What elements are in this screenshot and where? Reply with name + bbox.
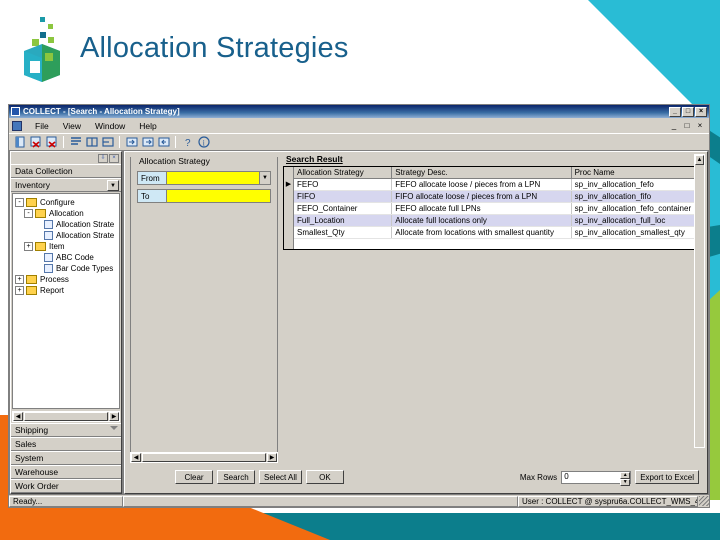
status-user-info: User : COLLECT @ syspru6a.COLLECT_WMS_41… (518, 496, 698, 507)
toolbar-separator (63, 136, 64, 148)
cell-desc: Allocate from locations with smallest qu… (392, 227, 571, 239)
about-icon[interactable]: i (196, 135, 211, 149)
toolbar-separator (175, 136, 176, 148)
window-title: COLLECT - [Search - Allocation Strategy] (23, 107, 669, 116)
sidebar-item-warehouse[interactable]: Warehouse (11, 465, 121, 479)
field-label-to: To (137, 189, 167, 203)
status-message: Ready... (9, 496, 123, 507)
list-view-icon[interactable] (68, 135, 83, 149)
max-rows-value[interactable]: 0 (562, 472, 620, 483)
mdi-document-icon (12, 121, 22, 131)
sidebar-item-label: Warehouse (15, 467, 58, 477)
cell-proc: sp_inv_allocation_fefo_container (571, 203, 701, 215)
scroll-right-icon[interactable]: ▶ (267, 453, 277, 462)
table-row[interactable]: Smallest_QtyAllocate from locations with… (294, 227, 702, 239)
tree-item-allocation[interactable]: -Allocation (15, 208, 117, 219)
tree-item-process[interactable]: +Process (15, 274, 117, 285)
results-table: Allocation Strategy Strategy Desc. Proc … (294, 167, 702, 239)
panel-caption: ⇩ × (11, 152, 121, 164)
ok-button[interactable]: OK (306, 470, 344, 484)
status-spacer (123, 496, 518, 507)
menu-item-file[interactable]: File (28, 120, 56, 132)
cell-proc: sp_inv_allocation_fifo (571, 191, 701, 203)
mdi-close-icon[interactable]: × (695, 121, 705, 130)
column-header-allocation-strategy[interactable]: Allocation Strategy (294, 167, 392, 179)
cell-desc: FEFO allocate full LPNs (392, 203, 571, 215)
presentation-slide: Allocation Strategies COLLECT - [Search … (0, 0, 720, 540)
cell-proc: sp_inv_allocation_fefo (571, 179, 701, 191)
criteria-groupbox: Allocation Strategy From ▼ To (130, 157, 278, 457)
tree-horizontal-scrollbar[interactable]: ◀ ▶ (12, 411, 120, 422)
collapse-icon[interactable]: - (15, 198, 24, 207)
row-selector-current-icon[interactable]: ▶ (284, 178, 293, 189)
row-selector[interactable] (284, 189, 293, 200)
import-icon[interactable] (156, 135, 171, 149)
field-row-to: To (137, 189, 271, 203)
table-header-row: Allocation Strategy Strategy Desc. Proc … (294, 167, 702, 179)
scroll-right-icon[interactable]: ▶ (109, 412, 119, 421)
column-header-proc-name[interactable]: Proc Name (571, 167, 701, 179)
expand-icon[interactable]: + (24, 242, 33, 251)
cell-strategy: Full_Location (294, 215, 392, 227)
chevron-down-icon[interactable]: ▼ (107, 180, 119, 191)
tree-spacer (33, 253, 42, 262)
document-icon (44, 220, 53, 229)
tree-item-label: Allocation Strate (56, 220, 114, 229)
mdi-client-area: ⇩ × Data Collection Inventory ▼ -Configu… (9, 150, 709, 495)
sidebar-item-sales[interactable]: Sales (11, 437, 121, 451)
search-result-title: Search Result (283, 152, 703, 166)
maximize-icon[interactable]: □ (682, 107, 694, 117)
tree-item-allocation-strate[interactable]: Allocation Strate (15, 230, 117, 241)
tree-item-label: Bar Code Types (56, 264, 113, 273)
tree-spacer (33, 231, 42, 240)
toolbar: ? i (9, 133, 709, 150)
scroll-thumb[interactable] (142, 453, 266, 462)
form-view-icon[interactable] (84, 135, 99, 149)
export-icon[interactable] (140, 135, 155, 149)
document-icon (44, 253, 53, 262)
results-grid-body: Allocation Strategy Strategy Desc. Proc … (294, 167, 702, 249)
sidebar-item-label: Shipping (15, 425, 48, 435)
search-result-section: Search Result ▶ Allocation Strategy Stra… (283, 152, 703, 452)
tree-item-configure[interactable]: -Configure (15, 197, 117, 208)
scroll-left-icon[interactable]: ◀ (13, 412, 23, 421)
criteria-horizontal-scrollbar[interactable]: ◀ ▶ (130, 452, 278, 463)
window-controls[interactable]: _ □ × (669, 107, 707, 117)
close-icon[interactable]: × (695, 107, 707, 117)
table-row[interactable]: FIFOFIFO allocate loose / pieces from a … (294, 191, 702, 203)
cell-strategy: FEFO_Container (294, 203, 392, 215)
split-view-icon[interactable] (100, 135, 115, 149)
row-selector[interactable] (284, 200, 293, 211)
next-record-icon[interactable] (124, 135, 139, 149)
help-icon[interactable]: ? (180, 135, 195, 149)
menu-item-window[interactable]: Window (88, 120, 132, 132)
module-selector-value: Inventory (15, 180, 50, 190)
svg-text:?: ? (185, 138, 191, 148)
folder-icon (35, 209, 46, 218)
tree-item-label: Configure (40, 198, 75, 207)
row-indicator-gutter: ▶ (284, 167, 294, 249)
gutter-header (284, 167, 293, 178)
new-record-icon[interactable] (12, 135, 27, 149)
module-selector[interactable]: Inventory ▼ (11, 178, 121, 192)
tree-item-label: Report (40, 286, 64, 295)
folder-icon (26, 286, 37, 295)
svg-text:i: i (202, 139, 205, 148)
folder-icon (26, 275, 37, 284)
sidebar-item-label: Work Order (15, 481, 59, 491)
tree-item-label: Allocation (49, 209, 84, 218)
row-selector[interactable] (284, 222, 293, 233)
app-icon (11, 107, 20, 116)
tree-item-allocation-strate[interactable]: Allocation Strate (15, 219, 117, 230)
toolbar-separator (119, 136, 120, 148)
module-button-list[interactable]: ShippingSalesSystemWarehouseWork Order (11, 423, 121, 493)
scroll-thumb[interactable] (24, 412, 108, 421)
resize-grip-icon[interactable] (699, 496, 709, 506)
cell-strategy: FEFO (294, 179, 392, 191)
window-titlebar: COLLECT - [Search - Allocation Strategy]… (9, 105, 709, 118)
status-bar: Ready... User : COLLECT @ syspru6a.COLLE… (9, 495, 709, 507)
max-rows-stepper[interactable]: 0 ▲ ▼ (561, 471, 631, 484)
scroll-up-icon[interactable]: ▲ (695, 155, 704, 165)
expand-icon[interactable]: + (15, 286, 24, 295)
mdi-restore-icon[interactable]: □ (682, 121, 692, 130)
panel-close-icon[interactable]: × (109, 154, 119, 163)
expand-icon[interactable]: + (15, 275, 24, 284)
row-selector[interactable] (284, 211, 293, 222)
minimize-icon[interactable]: _ (669, 107, 681, 117)
tree-item-abc-code[interactable]: ABC Code (15, 252, 117, 263)
results-grid[interactable]: ▶ Allocation Strategy Strategy Desc. Pro… (283, 166, 703, 250)
mdi-minimize-icon[interactable]: _ (669, 121, 679, 130)
spinner-buttons[interactable]: ▲ ▼ (620, 472, 630, 483)
clear-button[interactable]: Clear (175, 470, 213, 484)
tree-spacer (33, 220, 42, 229)
table-row[interactable]: Full_LocationAllocate full locations onl… (294, 215, 702, 227)
search-button[interactable]: Search (217, 470, 255, 484)
mdi-child-controls[interactable]: _ □ × (669, 121, 709, 130)
tree-spacer (33, 264, 42, 273)
menu-item-view[interactable]: View (56, 120, 88, 132)
tree-item-label: Process (40, 275, 69, 284)
collapse-icon[interactable]: - (24, 209, 33, 218)
page-title: Allocation Strategies (80, 32, 349, 65)
cell-strategy: FIFO (294, 191, 392, 203)
groupbox-title: Allocation Strategy (137, 156, 212, 166)
scroll-left-icon[interactable]: ◀ (131, 453, 141, 462)
table-row[interactable]: FEFOFEFO allocate loose / pieces from a … (294, 179, 702, 191)
export-controls: Max Rows 0 ▲ ▼ Export to Excel (520, 470, 699, 484)
to-input[interactable] (167, 189, 271, 203)
tree-item-item[interactable]: +Item (15, 241, 117, 252)
document-icon (44, 231, 53, 240)
cancel-record-icon[interactable] (44, 135, 59, 149)
menu-bar: File View Window Help _ □ × (9, 118, 709, 133)
tree-item-report[interactable]: +Report (15, 285, 117, 296)
max-rows-label: Max Rows (520, 473, 557, 482)
field-label-from: From (137, 171, 167, 185)
field-row-from: From ▼ (137, 171, 271, 185)
spinner-down-icon[interactable]: ▼ (620, 479, 630, 486)
from-input[interactable] (167, 171, 260, 185)
tree-item-label: Allocation Strate (56, 231, 114, 240)
form-vertical-scrollbar[interactable]: ▲ (694, 154, 705, 448)
chevron-down-icon[interactable] (110, 426, 118, 430)
panel-header: Data Collection (11, 164, 121, 178)
cell-proc: sp_inv_allocation_smallest_qty (571, 227, 701, 239)
application-window: COLLECT - [Search - Allocation Strategy]… (8, 104, 710, 508)
sidebar-item-system[interactable]: System (11, 451, 121, 465)
collect-cube-logo (14, 13, 70, 85)
cell-strategy: Smallest_Qty (294, 227, 392, 239)
export-to-excel-button[interactable]: Export to Excel (635, 470, 699, 484)
select-all-button[interactable]: Select All (259, 470, 302, 484)
navigation-panel: ⇩ × Data Collection Inventory ▼ -Configu… (10, 151, 122, 494)
search-allocation-strategy-form: Allocation Strategy From ▼ To Search Res… (124, 151, 708, 494)
menu-item-help[interactable]: Help (132, 120, 163, 132)
folder-icon (35, 242, 46, 251)
sidebar-item-work-order[interactable]: Work Order (11, 479, 121, 493)
from-dropdown-icon[interactable]: ▼ (260, 171, 271, 185)
action-button-row: Clear Search Select All OK (175, 470, 344, 484)
sidebar-item-label: System (15, 453, 43, 463)
cell-proc: sp_inv_allocation_full_loc (571, 215, 701, 227)
tree-item-label: Item (49, 242, 65, 251)
document-icon (44, 264, 53, 273)
sidebar-item-label: Sales (15, 439, 36, 449)
cell-desc: FEFO allocate loose / pieces from a LPN (392, 179, 571, 191)
tree-item-label: ABC Code (56, 253, 94, 262)
spinner-up-icon[interactable]: ▲ (620, 472, 630, 479)
pin-icon[interactable]: ⇩ (98, 154, 108, 163)
delete-record-icon[interactable] (28, 135, 43, 149)
tree-item-bar-code-types[interactable]: Bar Code Types (15, 263, 117, 274)
cell-desc: FIFO allocate loose / pieces from a LPN (392, 191, 571, 203)
folder-icon (26, 198, 37, 207)
navigation-tree[interactable]: -Configure-AllocationAllocation StrateAl… (12, 193, 120, 409)
sidebar-item-shipping[interactable]: Shipping (11, 423, 121, 437)
column-header-strategy-desc[interactable]: Strategy Desc. (392, 167, 571, 179)
cell-desc: Allocate full locations only (392, 215, 571, 227)
table-row[interactable]: FEFO_ContainerFEFO allocate full LPNssp_… (294, 203, 702, 215)
